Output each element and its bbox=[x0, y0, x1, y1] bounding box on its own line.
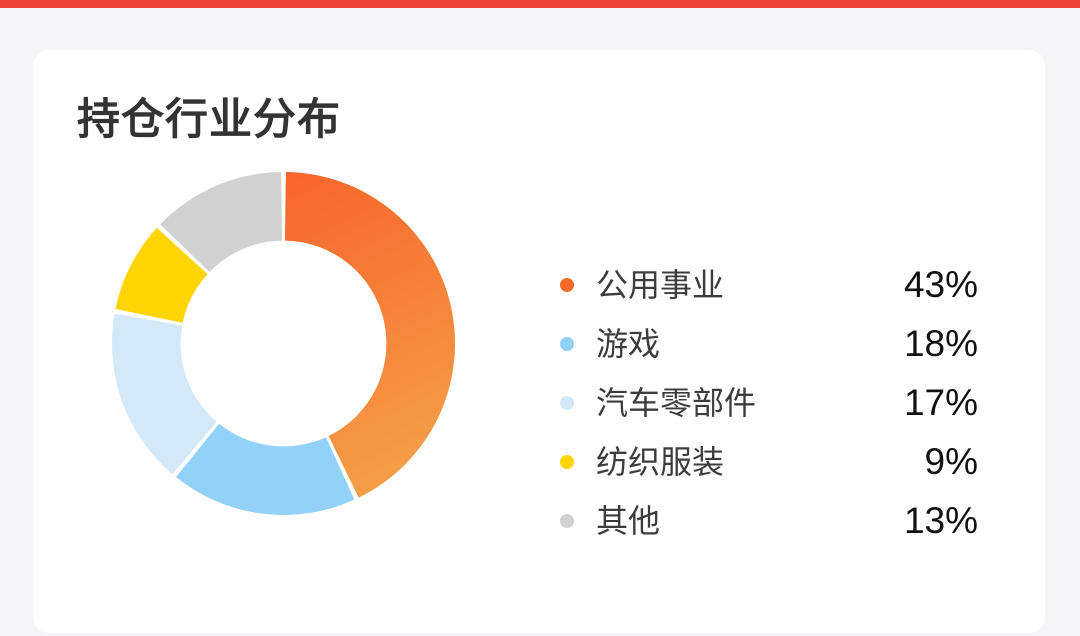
legend-label: 公用事业 bbox=[596, 269, 848, 301]
legend-row[interactable]: 游戏18% bbox=[560, 314, 978, 373]
legend-row[interactable]: 公用事业43% bbox=[560, 255, 978, 314]
legend-row[interactable]: 其他13% bbox=[560, 491, 978, 550]
legend-value: 17% bbox=[848, 384, 978, 421]
app-root: 持仓行业分布 公用事业43%游戏18%汽车零部件17%纺织服装9%其他13% bbox=[0, 0, 1080, 636]
legend-dot-textile bbox=[560, 455, 574, 469]
top-accent-bar bbox=[0, 0, 1080, 8]
legend-value: 18% bbox=[848, 325, 978, 362]
legend-row[interactable]: 汽车零部件17% bbox=[560, 373, 978, 432]
legend-dot-auto-parts bbox=[560, 396, 574, 410]
legend-label: 纺织服装 bbox=[596, 446, 848, 478]
legend-value: 9% bbox=[848, 443, 978, 480]
donut-chart-svg bbox=[112, 172, 455, 515]
legend-label: 游戏 bbox=[596, 328, 848, 360]
legend-value: 43% bbox=[848, 266, 978, 303]
legend-dot-gaming bbox=[560, 337, 574, 351]
legend-dot-utilities bbox=[560, 278, 574, 292]
legend-dot-other bbox=[560, 514, 574, 528]
page-title: 持仓行业分布 bbox=[77, 97, 341, 144]
chart-legend: 公用事业43%游戏18%汽车零部件17%纺织服装9%其他13% bbox=[560, 255, 978, 550]
legend-row[interactable]: 纺织服装9% bbox=[560, 432, 978, 491]
holdings-industry-distribution-card: 持仓行业分布 公用事业43%游戏18%汽车零部件17%纺织服装9%其他13% bbox=[33, 50, 1045, 633]
legend-value: 13% bbox=[848, 502, 978, 539]
donut-chart bbox=[112, 172, 455, 515]
legend-label: 其他 bbox=[596, 505, 848, 537]
legend-label: 汽车零部件 bbox=[596, 387, 848, 419]
